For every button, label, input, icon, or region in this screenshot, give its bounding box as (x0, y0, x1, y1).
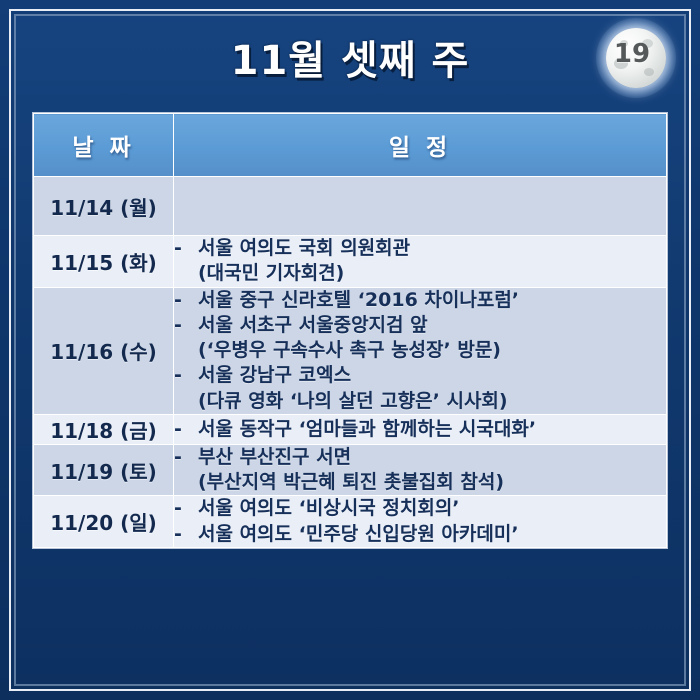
schedule-item-main: 부산 부산진구 서면 (198, 446, 351, 468)
schedule-item-main: 서울 강남구 코엑스 (198, 364, 351, 386)
column-header-date: 날 짜 (34, 114, 174, 177)
table-row: 11/15 (화)-서울 여의도 국회 의원회관(대국민 기자회견) (34, 236, 667, 288)
schedule-item-main: 서울 서초구 서울중앙지검 앞 (198, 314, 428, 336)
schedule-item-main: 서울 중구 신라호텔 ‘2016 차이나포럼’ (198, 289, 519, 311)
table-row: 11/19 (토)-부산 부산진구 서면(부산지역 박근혜 퇴진 촛불집회 참석… (34, 444, 667, 496)
bullet-dash-icon: - (174, 363, 198, 388)
cell-schedule: -서울 중구 신라호텔 ‘2016 차이나포럼’-서울 서초구 서울중앙지검 앞… (174, 287, 667, 414)
table-head: 날 짜 일 정 (34, 114, 667, 177)
schedule-item: -서울 중구 신라호텔 ‘2016 차이나포럼’ (174, 288, 666, 313)
page-title: 11월 셋째 주 (16, 28, 684, 86)
bullet-dash-icon: - (174, 236, 198, 261)
schedule-item-sub: (다큐 영화 ‘나의 살던 고향은’ 시사회) (198, 389, 666, 414)
column-header-schedule: 일 정 (174, 114, 667, 177)
cell-date: 11/20 (일) (34, 496, 174, 548)
moon-badge: 19 (602, 24, 670, 92)
bullet-dash-icon: - (174, 522, 198, 547)
schedule-item-body: 서울 강남구 코엑스(다큐 영화 ‘나의 살던 고향은’ 시사회) (198, 363, 666, 414)
bullet-dash-icon: - (174, 313, 198, 338)
poster-root: 11월 셋째 주 19 날 짜 일 정 11/14 (월)11/15 (화)-서… (0, 0, 700, 700)
cell-schedule: -부산 부산진구 서면(부산지역 박근혜 퇴진 촛불집회 참석) (174, 444, 667, 496)
table-row: 11/16 (수)-서울 중구 신라호텔 ‘2016 차이나포럼’-서울 서초구… (34, 287, 667, 414)
schedule-item: -서울 서초구 서울중앙지검 앞(‘우병우 구속수사 촉구 농성장’ 방문) (174, 313, 666, 364)
bullet-dash-icon: - (174, 417, 198, 442)
table-row: 11/20 (일)-서울 여의도 ‘비상시국 정치회의’-서울 여의도 ‘민주당… (34, 496, 667, 548)
table-body: 11/14 (월)11/15 (화)-서울 여의도 국회 의원회관(대국민 기자… (34, 177, 667, 548)
schedule-item-body: 서울 여의도 ‘민주당 신입당원 아카데미’ (198, 522, 666, 547)
bullet-dash-icon: - (174, 288, 198, 313)
cell-schedule: -서울 동작구 ‘엄마들과 함께하는 시국대화’ (174, 414, 667, 444)
schedule-item-sub: (대국민 기자회견) (198, 261, 666, 286)
schedule-item-main: 서울 여의도 국회 의원회관 (198, 237, 410, 259)
schedule-item-body: 서울 여의도 국회 의원회관(대국민 기자회견) (198, 236, 666, 287)
badge-number: 19 (602, 24, 662, 84)
schedule-item-main: 서울 여의도 ‘민주당 신입당원 아카데미’ (198, 523, 519, 545)
schedule-item: -서울 여의도 국회 의원회관(대국민 기자회견) (174, 236, 666, 287)
cell-date: 11/19 (토) (34, 444, 174, 496)
schedule-item: -부산 부산진구 서면(부산지역 박근혜 퇴진 촛불집회 참석) (174, 445, 666, 496)
schedule-item-body: 서울 동작구 ‘엄마들과 함께하는 시국대화’ (198, 417, 666, 442)
schedule-item-body: 서울 중구 신라호텔 ‘2016 차이나포럼’ (198, 288, 666, 313)
cell-schedule: -서울 여의도 ‘비상시국 정치회의’-서울 여의도 ‘민주당 신입당원 아카데… (174, 496, 667, 548)
cell-date: 11/16 (수) (34, 287, 174, 414)
schedule-table: 날 짜 일 정 11/14 (월)11/15 (화)-서울 여의도 국회 의원회… (33, 113, 667, 548)
schedule-item: -서울 여의도 ‘비상시국 정치회의’ (174, 496, 666, 521)
schedule-item-sub: (‘우병우 구속수사 촉구 농성장’ 방문) (198, 338, 666, 363)
schedule-item-body: 서울 서초구 서울중앙지검 앞(‘우병우 구속수사 촉구 농성장’ 방문) (198, 313, 666, 364)
schedule-item-body: 부산 부산진구 서면(부산지역 박근혜 퇴진 촛불집회 참석) (198, 445, 666, 496)
schedule-item: -서울 여의도 ‘민주당 신입당원 아카데미’ (174, 522, 666, 547)
cell-schedule: -서울 여의도 국회 의원회관(대국민 기자회견) (174, 236, 667, 288)
schedule-item-body: 서울 여의도 ‘비상시국 정치회의’ (198, 496, 666, 521)
title-bar: 11월 셋째 주 19 (16, 16, 684, 102)
schedule-table-container: 날 짜 일 정 11/14 (월)11/15 (화)-서울 여의도 국회 의원회… (32, 112, 668, 549)
cell-schedule (174, 177, 667, 236)
schedule-item-main: 서울 여의도 ‘비상시국 정치회의’ (198, 497, 460, 519)
cell-date: 11/15 (화) (34, 236, 174, 288)
table-row: 11/18 (금)-서울 동작구 ‘엄마들과 함께하는 시국대화’ (34, 414, 667, 444)
bullet-dash-icon: - (174, 496, 198, 521)
schedule-item: -서울 강남구 코엑스(다큐 영화 ‘나의 살던 고향은’ 시사회) (174, 363, 666, 414)
schedule-item: -서울 동작구 ‘엄마들과 함께하는 시국대화’ (174, 417, 666, 442)
table-header-row: 날 짜 일 정 (34, 114, 667, 177)
table-row: 11/14 (월) (34, 177, 667, 236)
schedule-item-sub: (부산지역 박근혜 퇴진 촛불집회 참석) (198, 470, 666, 495)
schedule-item-main: 서울 동작구 ‘엄마들과 함께하는 시국대화’ (198, 418, 536, 440)
bullet-dash-icon: - (174, 445, 198, 470)
cell-date: 11/14 (월) (34, 177, 174, 236)
cell-date: 11/18 (금) (34, 414, 174, 444)
